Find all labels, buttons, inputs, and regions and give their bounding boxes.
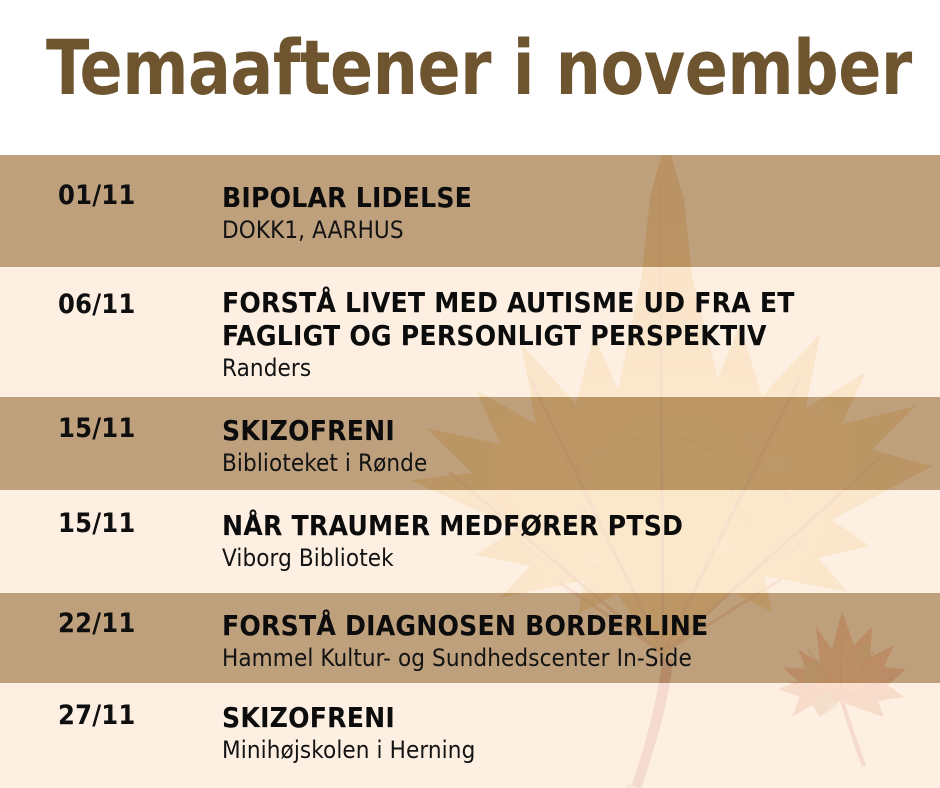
schedule-row[interactable]: 06/11 FORSTÅ LIVET MED AUTISME UD FRA ET… <box>0 267 940 397</box>
row-heading: FORSTÅ LIVET MED AUTISME UD FRA ET FAGLI… <box>222 286 922 352</box>
row-date: 22/11 <box>58 609 208 639</box>
schedule-row[interactable]: 15/11 SKIZOFRENI Biblioteket i Rønde <box>0 397 940 490</box>
row-heading: SKIZOFRENI <box>222 414 922 447</box>
schedule-row[interactable]: 27/11 SKIZOFRENI Minihøjskolen i Herning <box>0 683 940 788</box>
row-date: 15/11 <box>58 414 208 444</box>
row-date: 27/11 <box>58 701 208 731</box>
poster-canvas: 01/11 BIPOLAR LIDELSE DOKK1, AARHUS 06/1… <box>0 0 940 788</box>
row-heading: SKIZOFRENI <box>222 701 922 734</box>
row-venue: Hammel Kultur- og Sundhedscenter In-Side <box>222 643 922 673</box>
row-date: 06/11 <box>58 290 208 320</box>
row-venue: Biblioteket i Rønde <box>222 448 922 478</box>
row-venue: Minihøjskolen i Herning <box>222 735 922 765</box>
title-band: Temaaftener i november <box>0 0 940 155</box>
page-title: Temaaftener i november <box>46 26 851 110</box>
schedule-row[interactable]: 22/11 FORSTÅ DIAGNOSEN BORDERLINE Hammel… <box>0 593 940 683</box>
row-date: 01/11 <box>58 181 208 211</box>
schedule-row[interactable]: 01/11 BIPOLAR LIDELSE DOKK1, AARHUS <box>0 155 940 267</box>
row-body: FORSTÅ DIAGNOSEN BORDERLINE Hammel Kultu… <box>222 609 922 673</box>
row-body: NÅR TRAUMER MEDFØRER PTSD Viborg Bibliot… <box>222 509 922 573</box>
row-venue: DOKK1, AARHUS <box>222 215 922 245</box>
row-body: SKIZOFRENI Minihøjskolen i Herning <box>222 701 922 765</box>
row-venue: Viborg Bibliotek <box>222 543 922 573</box>
row-body: FORSTÅ LIVET MED AUTISME UD FRA ET FAGLI… <box>222 286 922 383</box>
row-heading: FORSTÅ DIAGNOSEN BORDERLINE <box>222 609 922 642</box>
row-venue: Randers <box>222 353 922 383</box>
row-date: 15/11 <box>58 509 208 539</box>
row-heading: BIPOLAR LIDELSE <box>222 181 922 214</box>
row-body: BIPOLAR LIDELSE DOKK1, AARHUS <box>222 181 922 245</box>
row-body: SKIZOFRENI Biblioteket i Rønde <box>222 414 922 478</box>
schedule-row[interactable]: 15/11 NÅR TRAUMER MEDFØRER PTSD Viborg B… <box>0 490 940 593</box>
row-heading: NÅR TRAUMER MEDFØRER PTSD <box>222 509 922 542</box>
